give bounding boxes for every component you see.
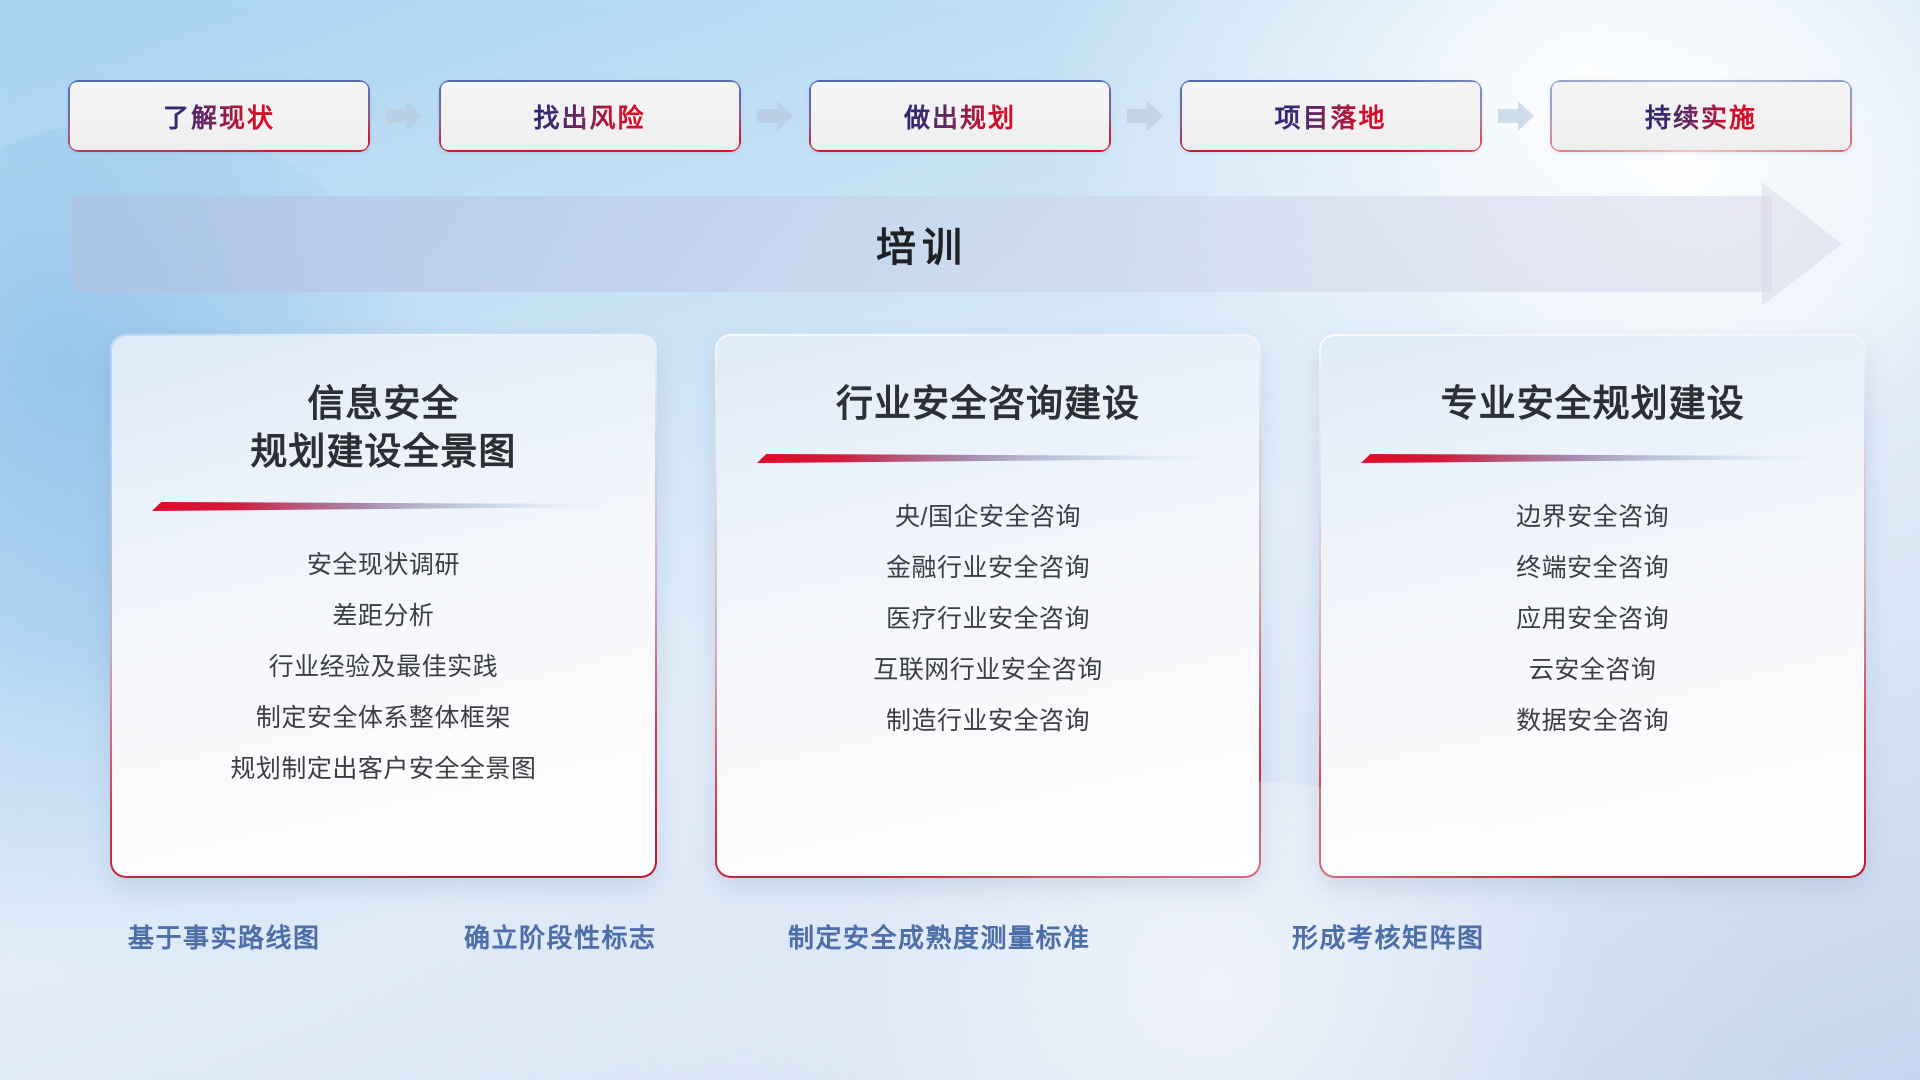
card-list-item: 医疗行业安全咨询 (743, 594, 1234, 645)
card-item-list: 边界安全咨询终端安全咨询应用安全咨询云安全咨询数据安全咨询 (1347, 492, 1838, 747)
card-title: 行业安全咨询建设 (836, 380, 1140, 428)
card-list-item: 数据安全咨询 (1347, 696, 1838, 747)
card-list-item: 行业经验及最佳实践 (138, 642, 629, 693)
card-list-item: 差距分析 (138, 591, 629, 642)
card-item-list: 安全现状调研差距分析行业经验及最佳实践制定安全体系整体框架规划制定出客户安全全景… (138, 540, 629, 795)
card-list-item: 制造行业安全咨询 (743, 696, 1234, 747)
banner-title: 培训 (72, 196, 1772, 292)
card-title: 信息安全 规划建设全景图 (250, 380, 516, 476)
step-label: 项目落地 (1274, 98, 1386, 135)
card-item-list: 央/国企安全咨询金融行业安全咨询医疗行业安全咨询互联网行业安全咨询制造行业安全咨… (743, 492, 1234, 747)
training-banner: 培训 (72, 196, 1842, 292)
card-list-item: 边界安全咨询 (1347, 492, 1838, 543)
arrow-right-icon (1496, 99, 1536, 133)
card-list-item: 规划制定出客户安全全景图 (138, 744, 629, 795)
card-divider (1361, 450, 1824, 466)
caption-4: 形成考核矩阵图 (1292, 918, 1485, 955)
card-list-item: 应用安全咨询 (1347, 594, 1838, 645)
step-box-5[interactable]: 持续实施 (1550, 80, 1852, 152)
arrow-right-icon (755, 99, 795, 133)
caption-2: 确立阶段性标志 (464, 918, 657, 955)
card-divider (152, 498, 615, 514)
caption-3: 制定安全成熟度测量标准 (788, 918, 1091, 955)
banner-arrow-icon (1762, 182, 1842, 306)
card-row: 信息安全 规划建设全景图安全现状调研差距分析行业经验及最佳实践制定安全体系整体框… (112, 336, 1864, 876)
step-label: 了解现状 (163, 98, 275, 135)
card-list-item: 金融行业安全咨询 (743, 543, 1234, 594)
step-label: 做出规划 (904, 98, 1016, 135)
card-list-item: 云安全咨询 (1347, 645, 1838, 696)
arrow-right-icon (384, 99, 424, 133)
service-card-3[interactable]: 专业安全规划建设边界安全咨询终端安全咨询应用安全咨询云安全咨询数据安全咨询 (1321, 336, 1864, 876)
process-step-row: 了解现状找出风险做出规划项目落地持续实施 (68, 80, 1852, 152)
card-list-item: 安全现状调研 (138, 540, 629, 591)
card-list-item: 制定安全体系整体框架 (138, 693, 629, 744)
caption-1: 基于事实路线图 (128, 918, 321, 955)
card-divider (757, 450, 1220, 466)
step-box-2[interactable]: 找出风险 (439, 80, 741, 152)
step-label: 持续实施 (1645, 98, 1757, 135)
arrow-right-icon (1125, 99, 1165, 133)
service-card-2[interactable]: 行业安全咨询建设央/国企安全咨询金融行业安全咨询医疗行业安全咨询互联网行业安全咨… (717, 336, 1260, 876)
card-title: 专业安全规划建设 (1441, 380, 1745, 428)
service-card-1[interactable]: 信息安全 规划建设全景图安全现状调研差距分析行业经验及最佳实践制定安全体系整体框… (112, 336, 655, 876)
caption-row: 基于事实路线图确立阶段性标志制定安全成熟度测量标准形成考核矩阵图 (0, 918, 1920, 964)
card-list-item: 央/国企安全咨询 (743, 492, 1234, 543)
card-list-item: 终端安全咨询 (1347, 543, 1838, 594)
step-label: 找出风险 (533, 98, 645, 135)
step-box-1[interactable]: 了解现状 (68, 80, 370, 152)
step-box-4[interactable]: 项目落地 (1180, 80, 1482, 152)
step-box-3[interactable]: 做出规划 (809, 80, 1111, 152)
card-list-item: 互联网行业安全咨询 (743, 645, 1234, 696)
